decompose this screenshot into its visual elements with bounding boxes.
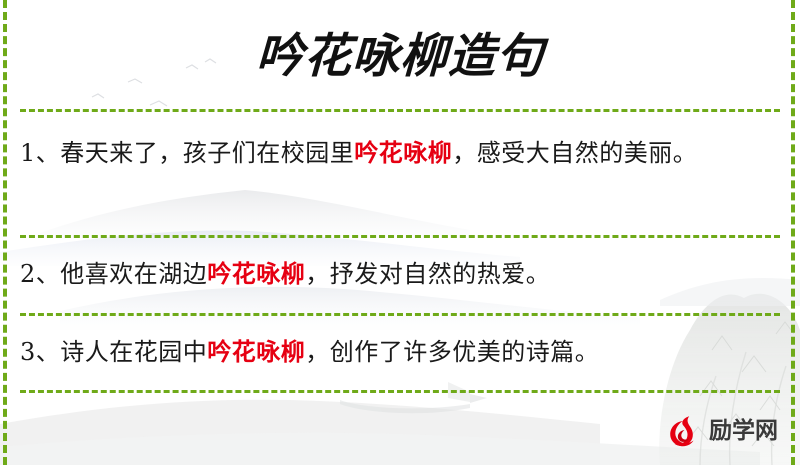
divider-after-sentence-1 (20, 235, 780, 238)
divider-under-title (20, 109, 780, 112)
sentence-3-index: 3、 (20, 338, 60, 366)
sentence-2-index: 2、 (20, 260, 60, 288)
divider-after-sentence-3 (20, 390, 780, 393)
sentence-3-after: ，创作了许多优美的诗篇。 (305, 338, 599, 366)
right-dashed-border (791, 0, 795, 465)
divider-after-sentence-2 (20, 313, 780, 316)
sentence-3-idiom: 吟花咏柳 (207, 337, 305, 366)
sentence-2-before: 他喜欢在湖边 (60, 260, 207, 288)
sentence-3-before: 诗人在花园中 (60, 338, 207, 366)
site-logo[interactable]: 励学网 (665, 412, 778, 450)
page-title: 吟花咏柳造句 (0, 27, 800, 87)
sentence-1-before: 春天来了，孩子们在校园里 (60, 139, 354, 167)
site-logo-text: 励学网 (709, 420, 778, 443)
sentence-2-idiom: 吟花咏柳 (207, 259, 305, 288)
sentence-1-after: ，感受大自然的美丽。 (452, 139, 697, 167)
sentence-item-3: 3、诗人在花园中吟花咏柳，创作了许多优美的诗篇。 (20, 331, 772, 373)
red-swirl-flame-icon (665, 412, 703, 450)
sentence-item-2: 2、他喜欢在湖边吟花咏柳，抒发对自然的热爱。 (20, 253, 772, 295)
content-area: 吟花咏柳造句 1、春天来了，孩子们在校园里吟花咏柳，感受大自然的美丽。 2、他喜… (0, 0, 800, 465)
sentence-1-index: 1、 (20, 139, 60, 167)
sentence-1-idiom: 吟花咏柳 (354, 138, 452, 167)
sentence-item-1: 1、春天来了，孩子们在校园里吟花咏柳，感受大自然的美丽。 (20, 132, 772, 174)
sentence-2-after: ，抒发对自然的热爱。 (305, 260, 550, 288)
page-root: 吟花咏柳造句 1、春天来了，孩子们在校园里吟花咏柳，感受大自然的美丽。 2、他喜… (0, 0, 800, 465)
left-dashed-border (3, 0, 7, 465)
